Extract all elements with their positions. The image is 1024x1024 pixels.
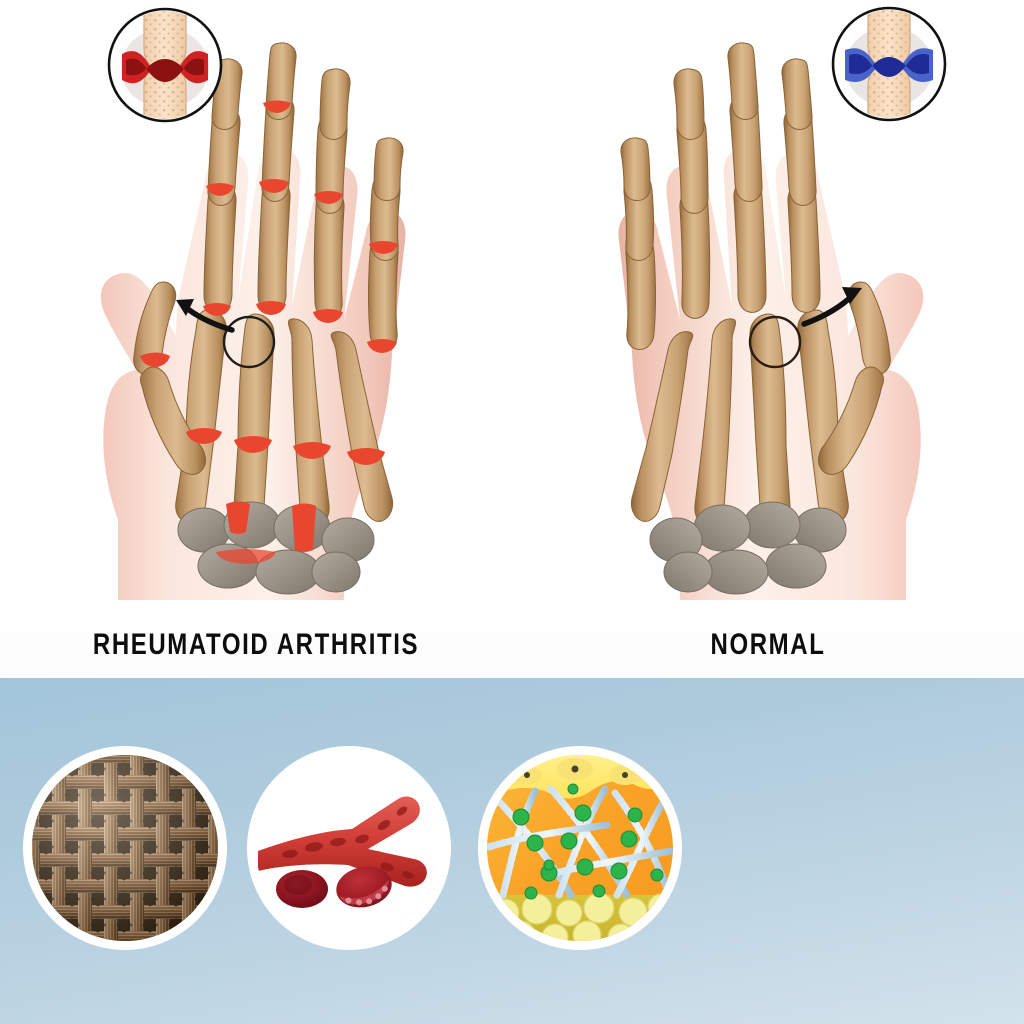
- blood-circulation-circle: [256, 755, 442, 941]
- normal-hand-illustration: [512, 0, 1024, 620]
- copper-technology-panel: THX4COPPER TECHNOLOGY The use of copper …: [0, 678, 1024, 1024]
- blood-vessel-illustration: [256, 755, 442, 941]
- infographic-page: RHEUMATOID ARTHRITIS: [0, 0, 1024, 1024]
- rheumatoid-arthritis-panel: RHEUMATOID ARTHRITIS: [0, 0, 512, 678]
- healthy-joint-callout: [833, 8, 945, 120]
- normal-hand-panel: NORMAL: [512, 0, 1024, 678]
- rheumatoid-arthritis-caption: RHEUMATOID ARTHRITIS: [51, 628, 461, 662]
- skin-collagen-illustration: [487, 755, 673, 941]
- rheumatoid-hand-illustration: [0, 0, 512, 620]
- normal-caption: NORMAL: [563, 628, 973, 662]
- inflamed-joint-callout: [109, 9, 221, 121]
- normal-hand-svg: [512, 0, 1024, 620]
- copper-fabric-weave-circle: [32, 755, 218, 941]
- rheumatoid-hand-svg: [0, 0, 512, 620]
- copper-fabric-weave-texture: [32, 755, 218, 941]
- hand-comparison-panel: RHEUMATOID ARTHRITIS: [0, 0, 1024, 678]
- skin-cell-repair-circle: [487, 755, 673, 941]
